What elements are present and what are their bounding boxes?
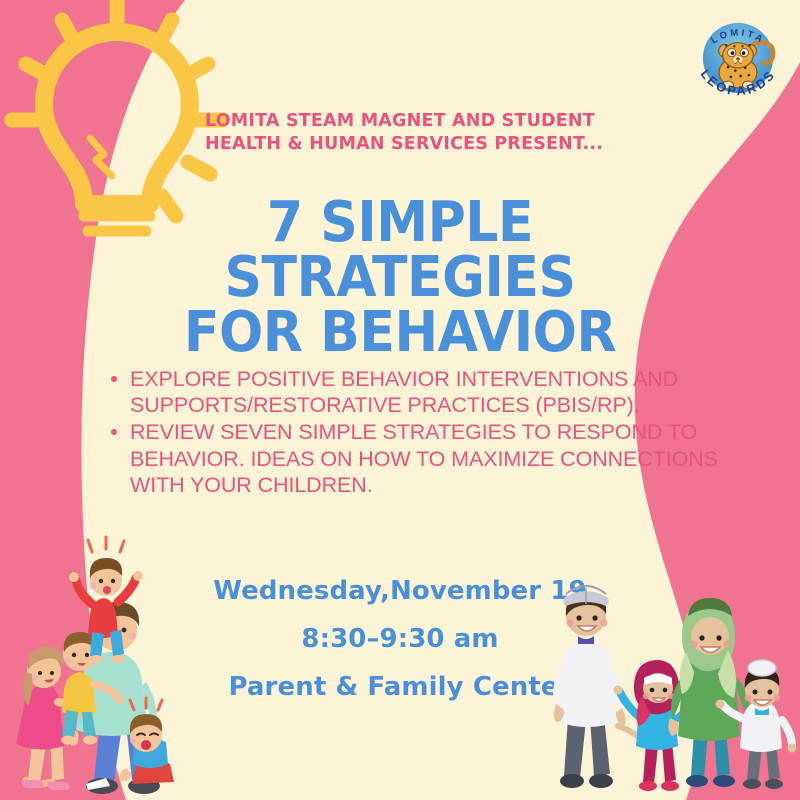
page-title: 7 SIMPLE STRATEGIES FOR BEHAVIOR bbox=[84, 196, 716, 361]
list-item: REVIEW SEVEN SIMPLE STRATEGIES TO RESPON… bbox=[108, 419, 718, 498]
muslim-family-illustration bbox=[542, 568, 800, 800]
presenter-line-1: LOMITA STEAM MAGNET AND STUDENT bbox=[205, 111, 595, 131]
presenter-line-2: HEALTH & HUMAN SERVICES PRESENT... bbox=[205, 134, 603, 154]
list-item: EXPLORE POSITIVE BEHAVIOR INTERVENTIONS … bbox=[108, 366, 718, 418]
poster-canvas: LOMITA LEOPARDS LOMITA STEAM MAGNET AND … bbox=[0, 0, 800, 800]
presenter-heading: LOMITA STEAM MAGNET AND STUDENT HEALTH &… bbox=[205, 110, 625, 157]
father-with-children-illustration bbox=[4, 532, 224, 800]
description-bullet-list: EXPLORE POSITIVE BEHAVIOR INTERVENTIONS … bbox=[108, 366, 718, 499]
title-line-2: FOR BEHAVIOR bbox=[84, 306, 716, 361]
title-line-1: 7 SIMPLE STRATEGIES bbox=[84, 196, 716, 306]
